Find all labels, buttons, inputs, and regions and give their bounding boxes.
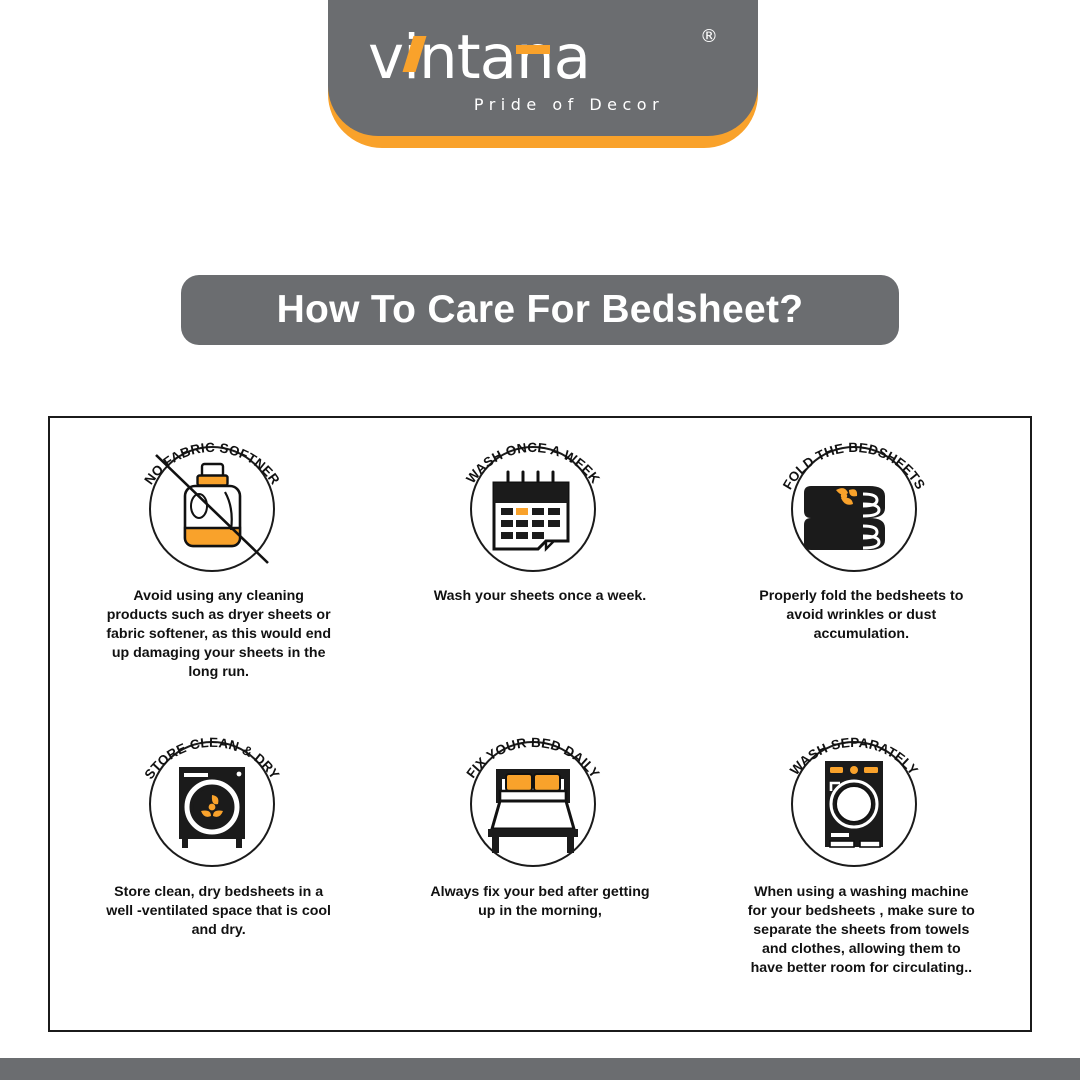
tip-card-fix-your-bed-daily: FIX YOUR BED DAILY bbox=[379, 727, 700, 1022]
logo-wordmark: vintana bbox=[368, 22, 590, 94]
tip-caption: Store clean, dry bedsheets in a well -ve… bbox=[104, 883, 334, 940]
tip-card-fold-the-bedsheets: FOLD THE BEDSHEETS bbox=[701, 432, 1022, 727]
tip-card-store-clean-and-dry: STORE CLEAN & DRY bbox=[58, 727, 379, 1022]
washing-machine-icon bbox=[791, 741, 917, 867]
badge: FIX YOUR BED DAILY bbox=[447, 727, 633, 877]
footer-bar bbox=[0, 1058, 1080, 1080]
tip-caption: Wash your sheets once a week. bbox=[434, 587, 646, 606]
badge: WASH ONCE A WEEK bbox=[447, 432, 633, 580]
badge: STORE CLEAN & DRY bbox=[126, 727, 312, 877]
folded-bedsheets-icon bbox=[791, 446, 917, 572]
badge: WASH SEPARATELY bbox=[768, 727, 954, 877]
tip-caption: Always fix your bed after getting up in … bbox=[425, 883, 655, 921]
tips-frame: NO FABRIC SOFTNER bbox=[48, 416, 1032, 1032]
brand-tagline: Pride of Decor bbox=[422, 95, 664, 114]
detergent-bottle-crossed-out-icon bbox=[149, 446, 275, 572]
logo-orange-tbar-icon bbox=[516, 45, 550, 54]
tip-card-wash-separately: WASH SEPARATELY bbox=[701, 727, 1022, 1022]
badge: NO FABRIC SOFTNER bbox=[126, 432, 312, 580]
logo: vintana ® bbox=[368, 22, 718, 94]
tip-card-no-fabric-softner: NO FABRIC SOFTNER bbox=[58, 432, 379, 727]
tip-caption: Avoid using any cleaning products such a… bbox=[104, 587, 334, 681]
infographic-page: vintana ® Pride of Decor How To Care For… bbox=[0, 0, 1080, 1080]
registered-mark-icon: ® bbox=[700, 26, 718, 47]
tips-grid: NO FABRIC SOFTNER bbox=[50, 418, 1030, 1030]
page-title: How To Care For Bedsheet? bbox=[277, 288, 804, 332]
logo-mark: vintana bbox=[368, 22, 698, 94]
calendar-icon bbox=[470, 446, 596, 572]
bed-icon bbox=[470, 741, 596, 867]
tip-caption: Properly fold the bedsheets to avoid wri… bbox=[746, 587, 976, 644]
tip-card-wash-once-a-week: WASH ONCE A WEEK bbox=[379, 432, 700, 727]
page-title-banner: How To Care For Bedsheet? bbox=[181, 275, 899, 345]
badge: FOLD THE BEDSHEETS bbox=[768, 432, 954, 580]
header-tab: vintana ® Pride of Decor bbox=[328, 0, 758, 136]
brand-header: vintana ® Pride of Decor bbox=[0, 0, 1080, 160]
tip-caption: When using a washing machine for your be… bbox=[746, 883, 976, 977]
dryer-icon bbox=[149, 741, 275, 867]
